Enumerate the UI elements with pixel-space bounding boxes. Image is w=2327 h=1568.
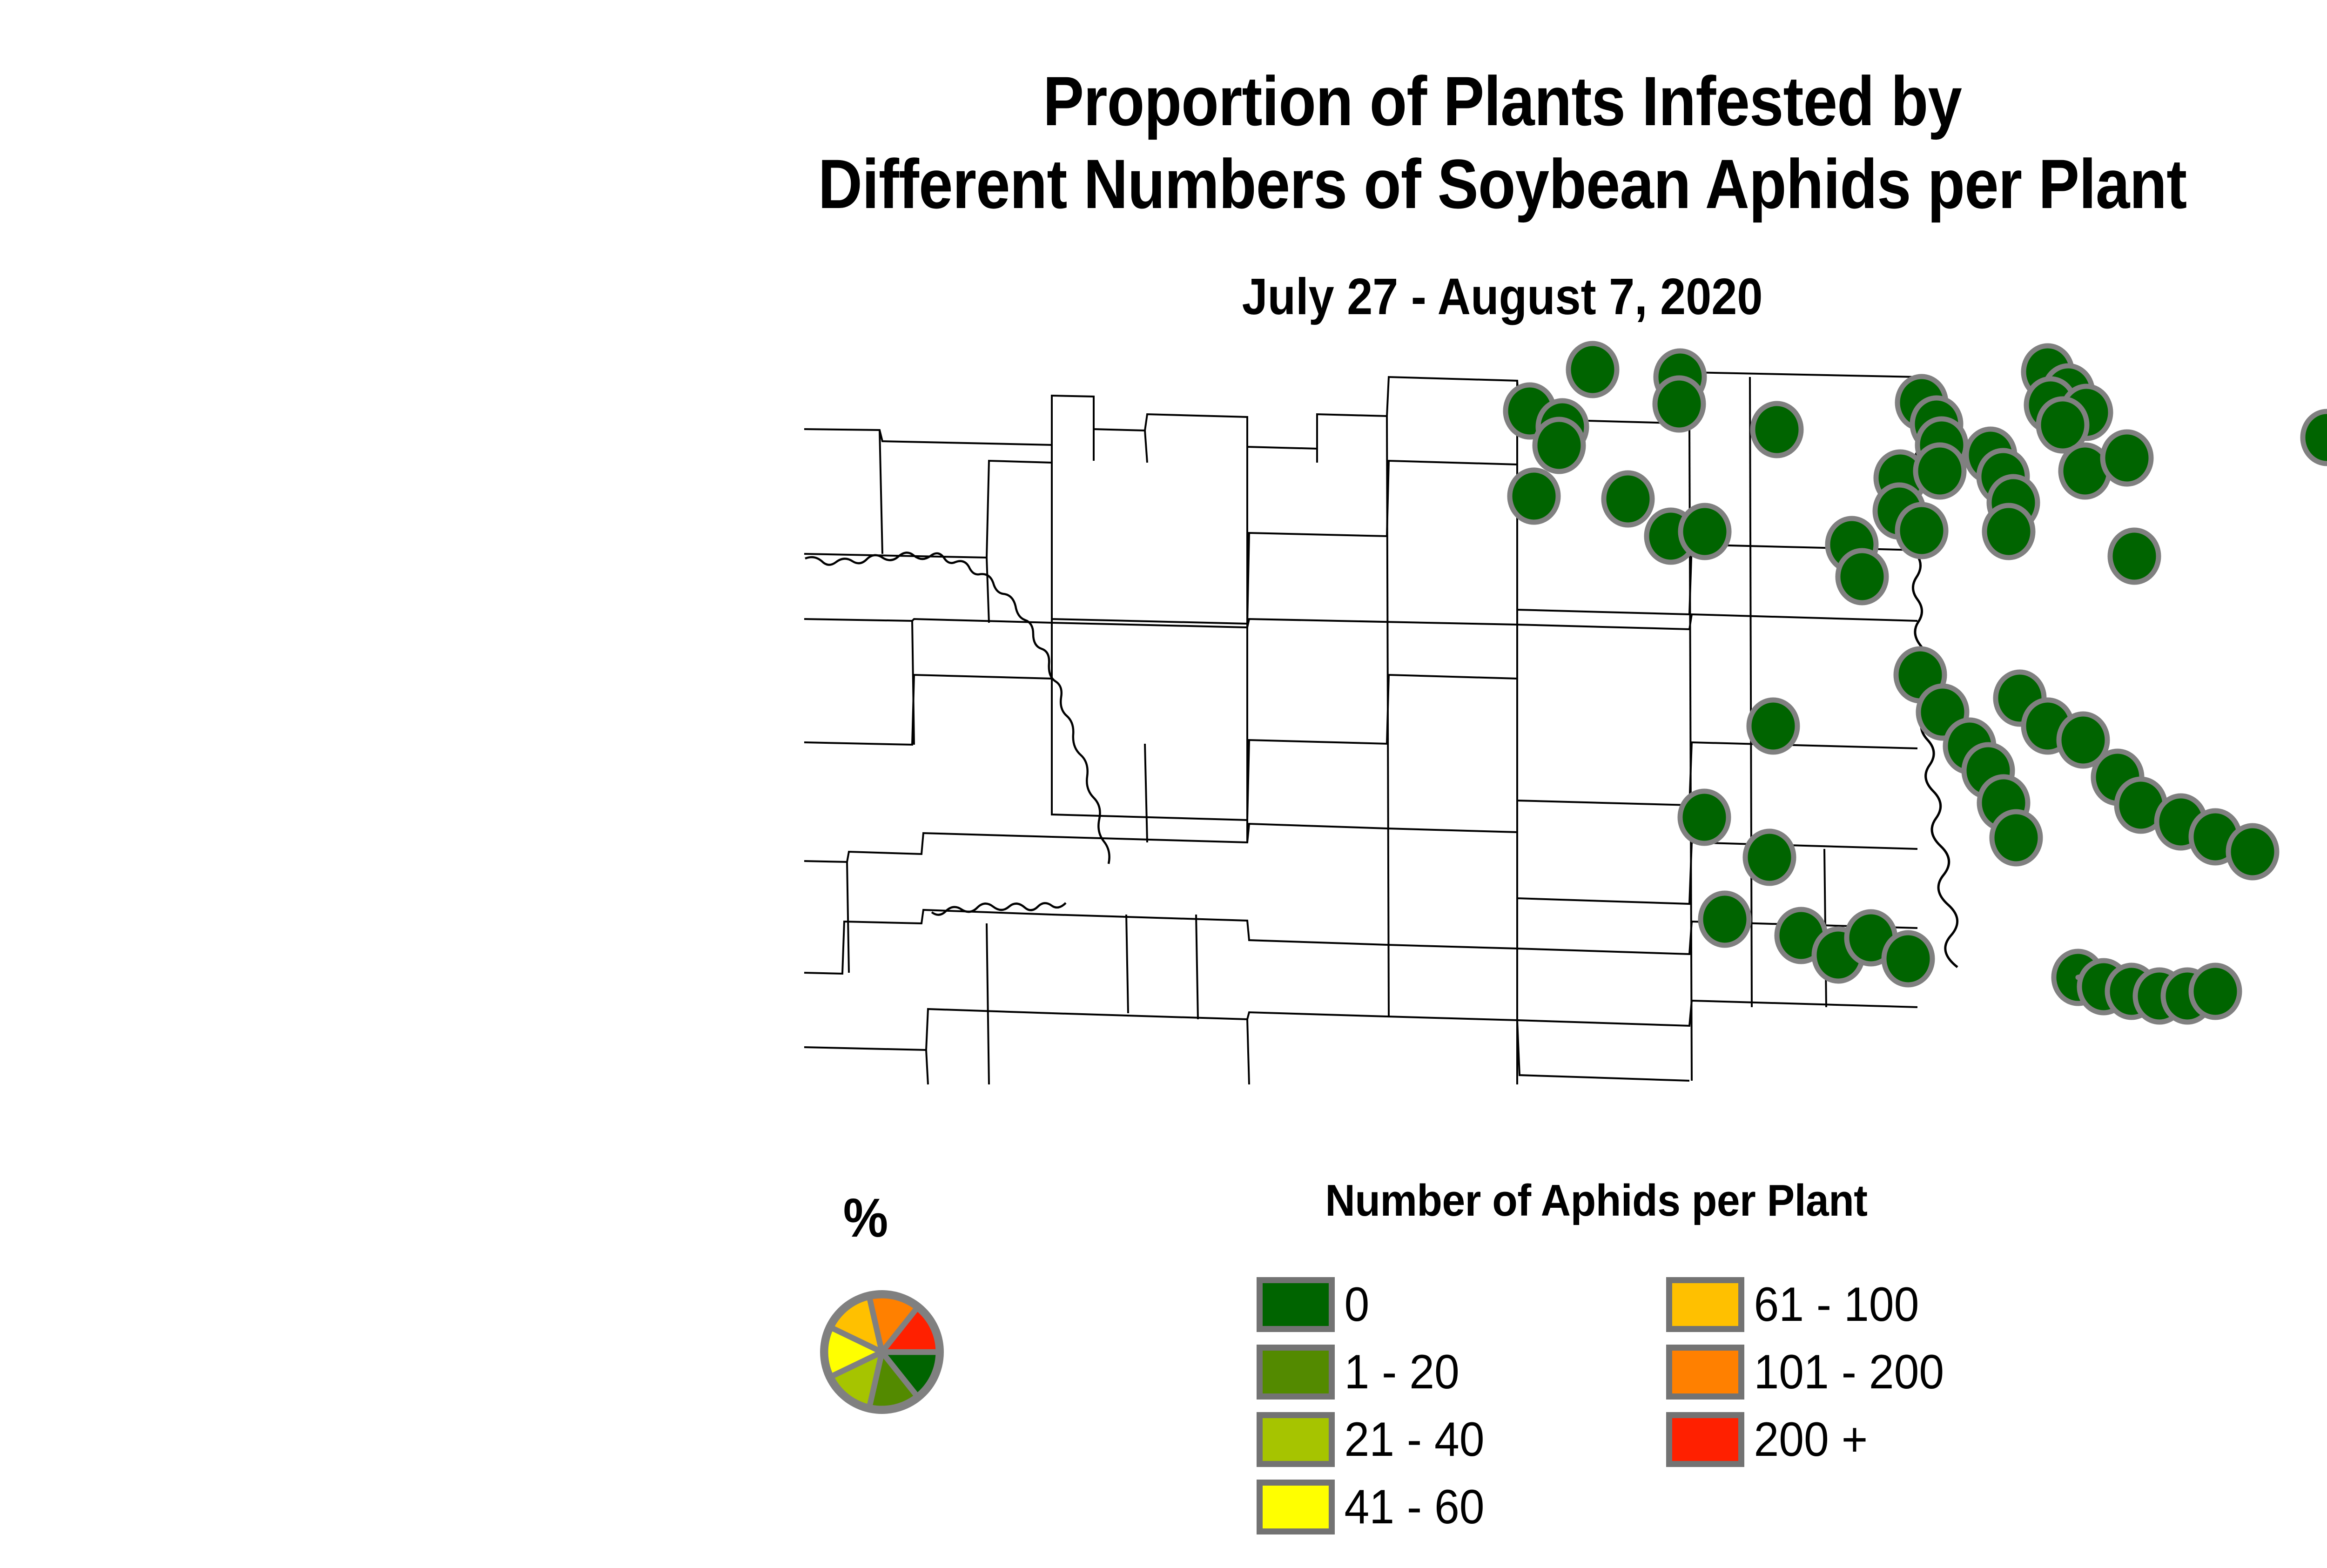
legend-item[interactable]: 200 + [1666, 1406, 2038, 1473]
legend-item-label: 0 [1335, 1280, 1369, 1329]
pie-marker [1749, 700, 1797, 752]
pie-marker [1838, 551, 1886, 603]
pie-marker [1535, 419, 1583, 471]
figure-title: Proportion of Plants Infested by Differe… [180, 60, 2327, 225]
legend-item-label: 21 - 40 [1335, 1415, 1485, 1464]
pie-marker-slice [1604, 473, 1652, 525]
legend-item[interactable]: 41 - 60 [1257, 1473, 1666, 1541]
pie-marker-slice [1745, 831, 1794, 883]
north-dakota-map [726, 321, 2066, 1154]
pie-marker-slice [1535, 419, 1583, 471]
legend-item[interactable]: 61 - 100 [1666, 1271, 2038, 1338]
pie-marker [1745, 831, 1794, 883]
pie-marker [1753, 404, 1801, 456]
pie-marker [1680, 791, 1728, 843]
pie-marker [1884, 933, 1932, 985]
pie-marker-slice [2103, 432, 2151, 484]
pie-marker [1655, 378, 1703, 430]
pie-marker [1510, 470, 1558, 522]
percent-key-pie-svg [819, 1289, 945, 1415]
legend: Number of Aphids per Plant 01 - 2021 - 4… [1257, 1178, 2057, 1541]
pie-marker-slice [1749, 700, 1797, 752]
pie-marker [1701, 893, 1749, 945]
pie-marker [1604, 473, 1652, 525]
pie-marker-slice [1510, 470, 1558, 522]
pie-marker-slice [2191, 965, 2240, 1017]
legend-item-label: 41 - 60 [1335, 1483, 1485, 1531]
legend-color-swatch [1666, 1277, 1744, 1332]
pie-marker-slice [1701, 893, 1749, 945]
pie-marker-slice [1984, 505, 2033, 558]
pie-marker-slice [1884, 933, 1932, 985]
legend-column-right: 61 - 100101 - 200200 + [1666, 1271, 2038, 1473]
legend-color-swatch [1666, 1412, 1744, 1467]
pie-marker-slice [1753, 404, 1801, 456]
pie-marker-slice [2228, 826, 2277, 878]
pie-marker-slice [2303, 411, 2327, 464]
legend-color-swatch [1257, 1345, 1335, 1400]
pie-marker [1916, 445, 1964, 497]
pie-marker-slice [1568, 343, 1617, 396]
pie-marker [2191, 965, 2240, 1017]
pie-marker-slice [1681, 505, 1729, 558]
legend-item-label: 61 - 100 [1744, 1280, 1919, 1329]
legend-color-swatch [1257, 1480, 1335, 1534]
legend-item-label: 101 - 200 [1744, 1348, 1944, 1396]
pie-marker [2228, 826, 2277, 878]
legend-title: Number of Aphids per Plant [1280, 1178, 1912, 1224]
pie-marker-slice [1680, 791, 1728, 843]
title-line-1: Proportion of Plants Infested by [180, 60, 2327, 142]
legend-color-swatch [1257, 1277, 1335, 1332]
figure-subtitle: July 27 - August 7, 2020 [150, 269, 2327, 325]
pie-marker [1984, 505, 2033, 558]
title-line-2: Different Numbers of Soybean Aphids per … [180, 142, 2327, 225]
pie-marker-slice [1992, 812, 2040, 864]
pie-marker [1897, 505, 1946, 557]
percent-key-pie [819, 1289, 945, 1415]
figure-root: Proportion of Plants Infested by Differe… [0, 0, 2327, 1568]
legend-color-swatch [1666, 1345, 1744, 1400]
pie-marker-slice [1916, 445, 1964, 497]
pie-marker [2110, 530, 2159, 582]
pie-marker-slice [1897, 505, 1946, 557]
legend-item[interactable]: 1 - 20 [1257, 1338, 1666, 1406]
pie-marker [1568, 343, 1617, 396]
pie-marker [1681, 505, 1729, 558]
pie-marker-slice [2110, 530, 2159, 582]
legend-item[interactable]: 21 - 40 [1257, 1406, 1666, 1473]
legend-item[interactable]: 0 [1257, 1271, 1666, 1338]
map-svg [726, 321, 2066, 1154]
legend-column-left: 01 - 2021 - 4041 - 60 [1257, 1271, 1666, 1541]
legend-item[interactable]: 101 - 200 [1666, 1338, 2038, 1406]
legend-color-swatch [1257, 1412, 1335, 1467]
pie-marker [1992, 812, 2040, 864]
pie-marker [2103, 432, 2151, 484]
pie-marker-slice [1655, 378, 1703, 430]
pie-marker [2303, 411, 2327, 464]
pie-marker-slice [1838, 551, 1886, 603]
legend-item-label: 1 - 20 [1335, 1348, 1459, 1396]
percent-key-label: % [797, 1191, 934, 1245]
legend-item-label: 200 + [1744, 1415, 1868, 1464]
